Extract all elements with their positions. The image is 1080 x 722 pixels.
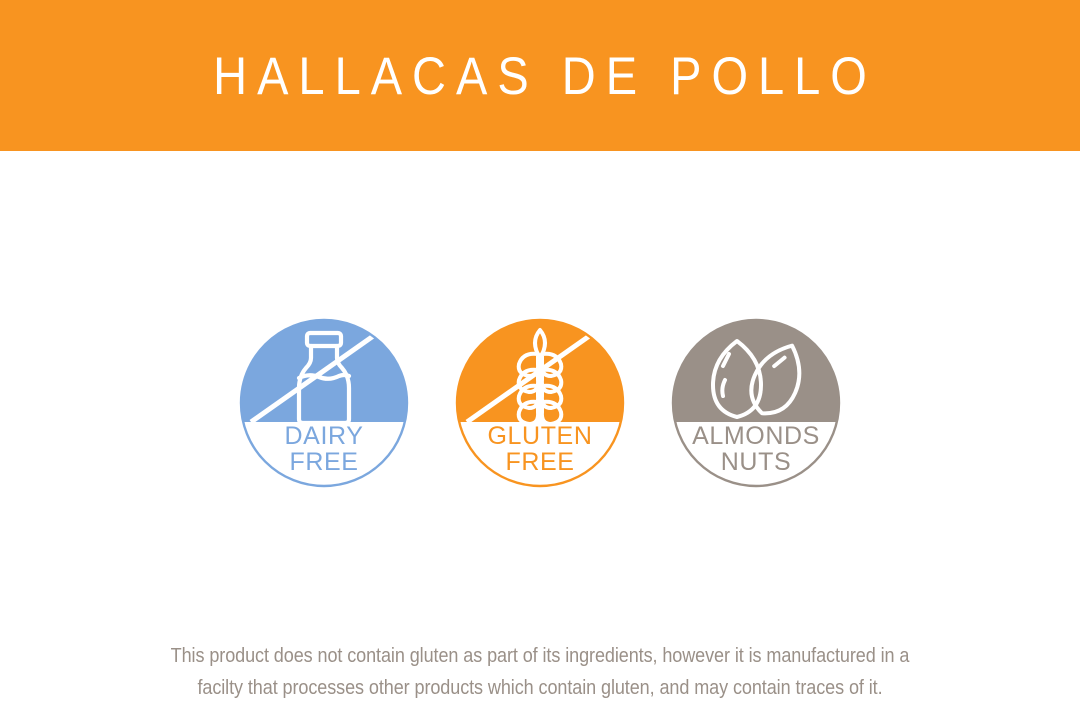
allergen-badge-row: DAIRY FREE [0, 318, 1080, 488]
badge-label-line1: DAIRY [285, 422, 364, 450]
badge-dairy-free[interactable]: DAIRY FREE [239, 318, 409, 488]
header-band: HALLACAS DE POLLO [0, 0, 1080, 151]
disclaimer-text: This product does not contain gluten as … [90, 640, 990, 704]
badge-gluten-free[interactable]: GLUTEN FREE [455, 318, 625, 488]
page-title: HALLACAS DE POLLO [203, 49, 877, 102]
badge-label-line1: ALMONDS [692, 422, 820, 450]
badge-label-line2: NUTS [721, 448, 791, 476]
disclaimer-line-2: facilty that processes other products wh… [144, 672, 936, 704]
badge-label-line2: FREE [505, 448, 574, 476]
badge-almonds-nuts[interactable]: ALMONDS NUTS [671, 318, 841, 488]
disclaimer-line-1: This product does not contain gluten as … [144, 640, 936, 672]
badge-label-line2: FREE [289, 448, 358, 476]
badge-label-line1: GLUTEN [487, 422, 592, 450]
